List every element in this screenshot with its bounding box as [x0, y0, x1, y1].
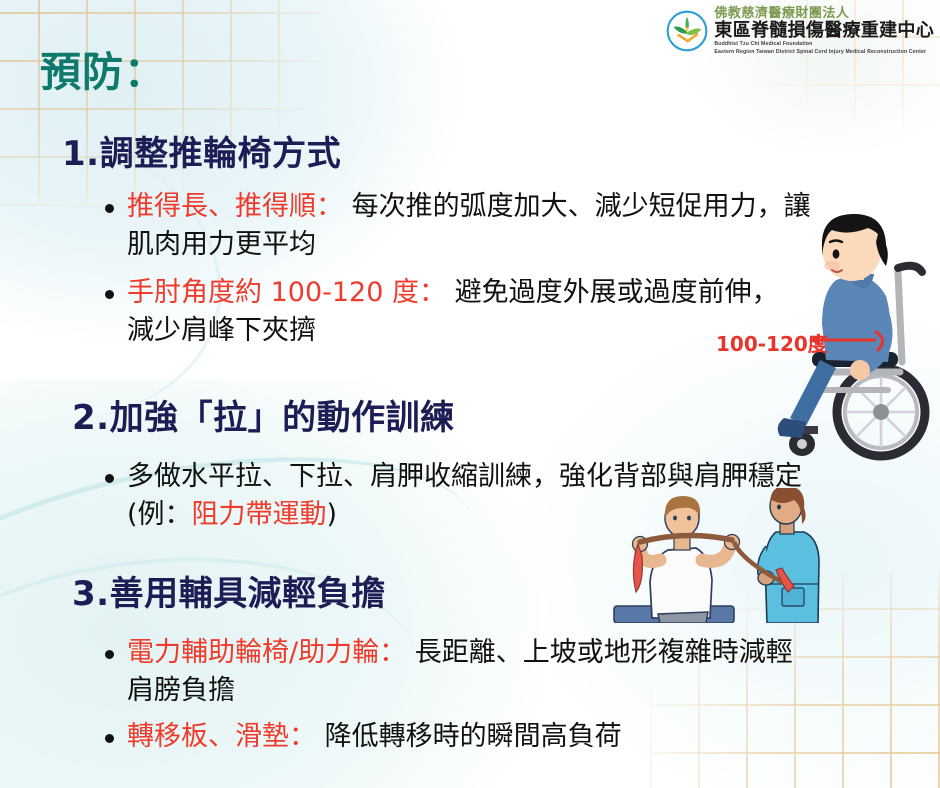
annotation-arrow-icon	[716, 326, 896, 360]
bullet-dot-icon	[105, 734, 114, 743]
bullet-dot-icon	[105, 204, 114, 213]
slide-canvas: 佛教慈濟醫療財團法人 東區脊髓損傷醫療重建中心 Buddhist Tzu Chi…	[0, 0, 940, 788]
logo-foundation-name-en: Buddhist Tzu Chi Medical Foundation	[714, 41, 934, 49]
bullet-dot-icon	[105, 290, 114, 299]
bullet-highlight: 阻力帶運動	[192, 499, 327, 530]
bullet-highlight: 推得長、推得順：	[127, 191, 343, 222]
bullet-body-suffix: )	[327, 499, 338, 530]
logo-center-name-zh: 東區脊髓損傷醫療重建中心	[714, 21, 934, 39]
grid-pattern-top-left	[0, 0, 320, 206]
bullet-text: 手肘角度約 100-120 度： 避免過度外展或過度前伸，減少肩峰下夾擠	[127, 274, 785, 351]
bullet-text: 電力輔助輪椅/助力輪： 長距離、上坡或地形複雜時減輕肩膀負擔	[127, 634, 795, 711]
page-title: 預防：	[40, 38, 166, 98]
bullet-text: 推得長、推得順： 每次推的弧度加大、減少短促用力，讓肌肉用力更平均	[127, 188, 827, 265]
tzu-chi-lotus-logo-icon	[666, 10, 708, 52]
organization-logo: 佛教慈濟醫療財團法人 東區脊髓損傷醫療重建中心 Buddhist Tzu Chi…	[666, 6, 934, 57]
logo-foundation-name-zh: 佛教慈濟醫療財團法人	[714, 6, 934, 19]
resistance-band-therapy-illustration	[590, 488, 840, 623]
bullet-text: 轉移板、滑墊： 降低轉移時的瞬間高負荷	[127, 718, 622, 756]
elbow-angle-annotation: 100-120度	[716, 326, 896, 360]
bullet-highlight: 轉移板、滑墊：	[127, 721, 316, 752]
list-item: 轉移板、滑墊： 降低轉移時的瞬間高負荷	[105, 718, 622, 756]
section-heading-3: 3.善用輔具減輕負擔	[72, 566, 386, 615]
bullet-highlight: 手肘角度約 100-120 度：	[127, 277, 446, 308]
section-heading-1: 1.調整推輪椅方式	[62, 126, 341, 175]
bullet-dot-icon	[105, 650, 114, 659]
bullet-body: 降低轉移時的瞬間高負荷	[316, 721, 622, 752]
list-item: 推得長、推得順： 每次推的弧度加大、減少短促用力，讓肌肉用力更平均	[105, 188, 827, 265]
logo-center-name-en: Eastern Region Taiwan District Spinal Co…	[714, 49, 934, 57]
list-item: 電力輔助輪椅/助力輪： 長距離、上坡或地形複雜時減輕肩膀負擔	[105, 634, 795, 711]
bullet-dot-icon	[105, 474, 114, 483]
bullet-highlight: 電力輔助輪椅/助力輪：	[127, 637, 406, 668]
list-item: 手肘角度約 100-120 度： 避免過度外展或過度前伸，減少肩峰下夾擠	[105, 274, 785, 351]
logo-text-block: 佛教慈濟醫療財團法人 東區脊髓損傷醫療重建中心 Buddhist Tzu Chi…	[714, 6, 934, 57]
section-heading-2: 2.加強「拉」的動作訓練	[72, 390, 455, 439]
